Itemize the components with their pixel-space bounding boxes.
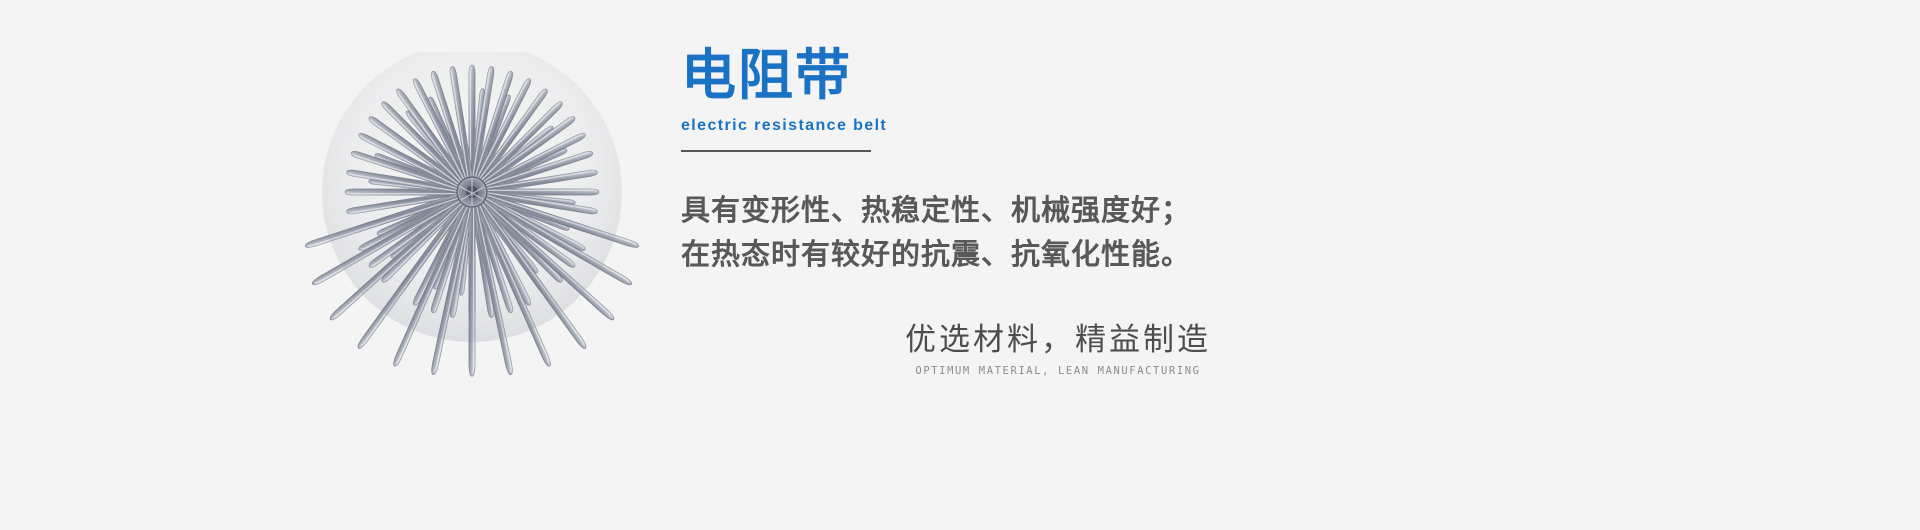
banner-content: 电阻带 electric resistance belt 具有变形性、热稳定性、…: [681, 44, 1461, 484]
tagline-english: OPTIMUM MATERIAL, LEAN MANUFACTURING: [778, 364, 1338, 378]
description-line: 具有变形性、热稳定性、机械强度好；: [681, 188, 1461, 232]
page-title: 电阻带: [681, 44, 1461, 106]
title-divider: [681, 150, 871, 152]
description-line: 在热态时有较好的抗震、抗氧化性能。: [681, 232, 1461, 276]
product-banner: 电阻带 electric resistance belt 具有变形性、热稳定性、…: [0, 0, 1920, 530]
tagline-chinese: 优选材料，精益制造: [778, 320, 1338, 360]
product-description: 具有变形性、热稳定性、机械强度好； 在热态时有较好的抗震、抗氧化性能。: [681, 188, 1461, 276]
tagline-block: 优选材料，精益制造 OPTIMUM MATERIAL, LEAN MANUFAC…: [778, 320, 1338, 378]
page-subtitle: electric resistance belt: [681, 116, 1461, 136]
product-image: [296, 52, 648, 382]
